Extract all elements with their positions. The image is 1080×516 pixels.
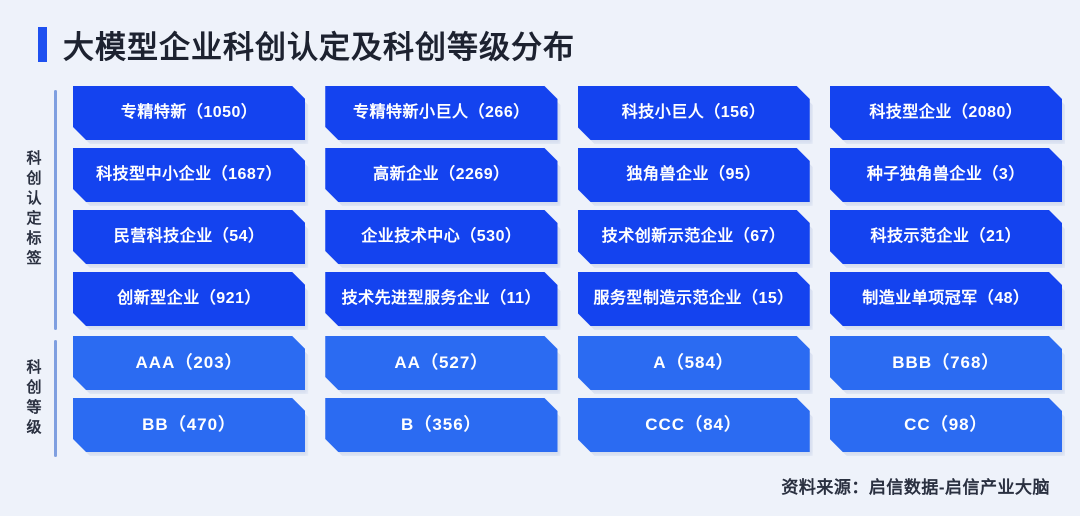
chip-wrapper: 技术先进型服务企业（11）	[325, 272, 557, 326]
axis-label-1: 科创等级	[18, 336, 48, 461]
tag-chip[interactable]: 科技小巨人（156）	[578, 86, 810, 140]
tag-chip-label: CCC（84）	[645, 414, 742, 435]
tag-chip[interactable]: 制造业单项冠军（48）	[830, 272, 1062, 326]
chip-grid: AAA（203）AA（527）A（584）BBB（768）BB（470）B（35…	[73, 336, 1062, 461]
tag-chip-label: 创新型企业（921）	[117, 289, 261, 309]
axis-label-0: 科创认定标签	[18, 86, 48, 334]
source-note: 资料来源：启信数据-启信产业大脑	[781, 473, 1050, 498]
chip-wrapper: 创新型企业（921）	[73, 272, 305, 326]
tag-chip[interactable]: 科技型中小企业（1687）	[73, 148, 305, 202]
tag-chip[interactable]: 企业技术中心（530）	[325, 210, 557, 264]
tag-chip-label: B（356）	[401, 414, 482, 435]
tag-chip-label: 民营科技企业（54）	[114, 227, 265, 247]
tag-chip[interactable]: 专精特新（1050）	[73, 86, 305, 140]
section-tags: 科创认定标签专精特新（1050）专精特新小巨人（266）科技小巨人（156）科技…	[18, 86, 1062, 334]
tag-chip[interactable]: 种子独角兽企业（3）	[830, 148, 1062, 202]
chip-wrapper: 高新企业（2269）	[325, 148, 557, 202]
chip-wrapper: 专精特新（1050）	[73, 86, 305, 140]
tag-chip[interactable]: B（356）	[325, 398, 557, 452]
tag-chip[interactable]: CC（98）	[830, 398, 1062, 452]
section-grades: 科创等级AAA（203）AA（527）A（584）BBB（768）BB（470）…	[18, 336, 1062, 461]
tag-chip-label: 制造业单项冠军（48）	[862, 289, 1029, 309]
tag-chip-label: 种子独角兽企业（3）	[867, 165, 1025, 185]
tag-chip[interactable]: A（584）	[578, 336, 810, 390]
tag-chip-label: 企业技术中心（530）	[361, 227, 521, 247]
chip-wrapper: 独角兽企业（95）	[578, 148, 810, 202]
tag-chip-label: 技术先进型服务企业（11）	[342, 289, 541, 309]
title-accent-bar	[38, 27, 47, 62]
tag-chip[interactable]: BBB（768）	[830, 336, 1062, 390]
tag-chip-label: BB（470）	[142, 414, 236, 435]
tag-chip-label: AA（527）	[394, 352, 488, 373]
chip-wrapper: B（356）	[325, 398, 557, 452]
tag-chip[interactable]: 科技示范企业（21）	[830, 210, 1062, 264]
chip-wrapper: 民营科技企业（54）	[73, 210, 305, 264]
tag-chip[interactable]: AA（527）	[325, 336, 557, 390]
tag-chip-label: 专精特新小巨人（266）	[353, 103, 530, 123]
tag-chip[interactable]: 服务型制造示范企业（15）	[578, 272, 810, 326]
infographic-page: { "header": { "title": "大模型企业科创认定及科创等级分布…	[0, 0, 1080, 516]
tag-chip-label: 科技小巨人（156）	[622, 103, 766, 123]
chip-wrapper: AAA（203）	[73, 336, 305, 390]
tag-chip[interactable]: AAA（203）	[73, 336, 305, 390]
tag-chip-label: 高新企业（2269）	[373, 165, 510, 185]
tag-chip[interactable]: 高新企业（2269）	[325, 148, 557, 202]
chip-wrapper: 科技型中小企业（1687）	[73, 148, 305, 202]
tag-chip-label: 独角兽企业（95）	[626, 165, 760, 185]
axis-divider	[54, 90, 57, 330]
chip-wrapper: BBB（768）	[830, 336, 1062, 390]
tag-chip-label: 服务型制造示范企业（15）	[593, 289, 793, 309]
tag-chip[interactable]: 独角兽企业（95）	[578, 148, 810, 202]
chip-wrapper: CC（98）	[830, 398, 1062, 452]
chip-wrapper: BB（470）	[73, 398, 305, 452]
tag-chip-label: 专精特新（1050）	[121, 103, 258, 123]
distribution-board: 科创认定标签专精特新（1050）专精特新小巨人（266）科技小巨人（156）科技…	[0, 86, 1080, 461]
tag-chip-label: 科技型企业（2080）	[869, 103, 1022, 123]
chip-wrapper: 科技小巨人（156）	[578, 86, 810, 140]
tag-chip[interactable]: 专精特新小巨人（266）	[325, 86, 557, 140]
chip-wrapper: AA（527）	[325, 336, 557, 390]
tag-chip-label: 技术创新示范企业（67）	[602, 227, 786, 247]
tag-chip-label: 科技示范企业（21）	[870, 227, 1021, 247]
tag-chip[interactable]: 技术创新示范企业（67）	[578, 210, 810, 264]
chip-wrapper: 科技型企业（2080）	[830, 86, 1062, 140]
tag-chip[interactable]: BB（470）	[73, 398, 305, 452]
chip-wrapper: 制造业单项冠军（48）	[830, 272, 1062, 326]
tag-chip[interactable]: CCC（84）	[578, 398, 810, 452]
tag-chip[interactable]: 科技型企业（2080）	[830, 86, 1062, 140]
chip-wrapper: 专精特新小巨人（266）	[325, 86, 557, 140]
chip-wrapper: 技术创新示范企业（67）	[578, 210, 810, 264]
page-title-text: 大模型企业科创认定及科创等级分布	[63, 22, 575, 67]
tag-chip-label: A（584）	[653, 352, 734, 373]
chip-wrapper: 种子独角兽企业（3）	[830, 148, 1062, 202]
tag-chip-label: AAA（203）	[136, 352, 243, 373]
chip-wrapper: 服务型制造示范企业（15）	[578, 272, 810, 326]
chip-wrapper: A（584）	[578, 336, 810, 390]
chip-grid: 专精特新（1050）专精特新小巨人（266）科技小巨人（156）科技型企业（20…	[73, 86, 1062, 334]
tag-chip[interactable]: 民营科技企业（54）	[73, 210, 305, 264]
chip-wrapper: 企业技术中心（530）	[325, 210, 557, 264]
tag-chip-label: 科技型中小企业（1687）	[96, 165, 282, 185]
page-title: 大模型企业科创认定及科创等级分布	[38, 22, 575, 66]
tag-chip[interactable]: 创新型企业（921）	[73, 272, 305, 326]
axis-divider	[54, 340, 57, 457]
tag-chip-label: BBB（768）	[892, 352, 999, 373]
tag-chip[interactable]: 技术先进型服务企业（11）	[325, 272, 557, 326]
chip-wrapper: CCC（84）	[578, 398, 810, 452]
tag-chip-label: CC（98）	[904, 414, 987, 435]
chip-wrapper: 科技示范企业（21）	[830, 210, 1062, 264]
